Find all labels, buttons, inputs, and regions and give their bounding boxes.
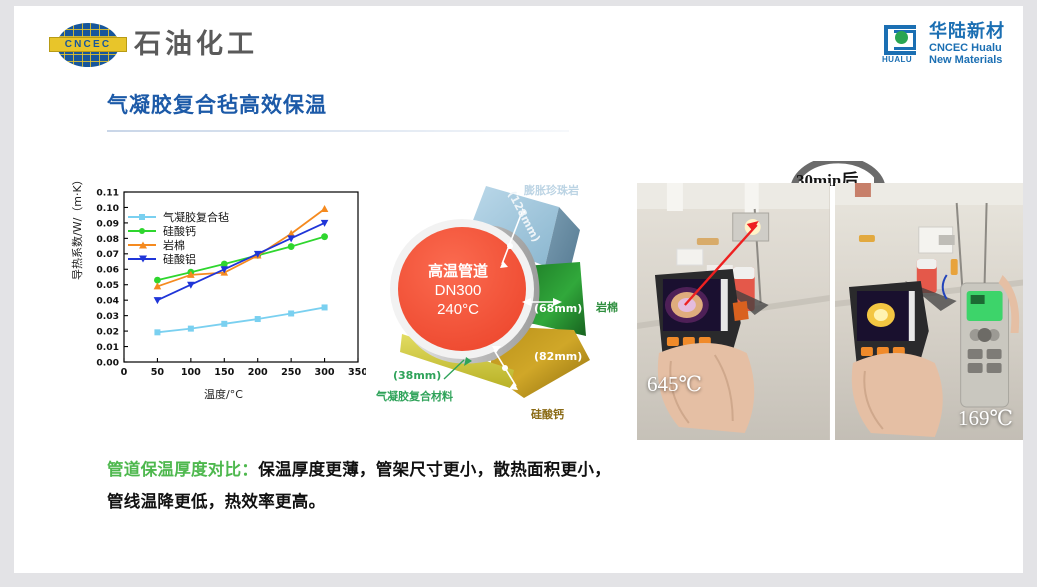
layer-thickness-calcium-silicate: (82mm) xyxy=(534,350,582,363)
svg-text:0.09: 0.09 xyxy=(96,218,119,229)
slide-canvas: CNCEC 石油化工 HUALU 华陆新材 CNCEC Hualu New Ma… xyxy=(14,6,1023,573)
hualu-brand-en-1: CNCEC Hualu xyxy=(929,42,1005,55)
pipe-core-label: 高温管道 DN300 240°C xyxy=(398,231,518,349)
brand-title-cn: 石油化工 xyxy=(134,28,258,62)
svg-text:0.07: 0.07 xyxy=(96,249,119,260)
layer-thickness-rockwool: (68mm) xyxy=(534,302,582,315)
svg-text:50: 50 xyxy=(151,367,165,378)
legend-swatch xyxy=(128,258,156,260)
svg-text:150: 150 xyxy=(214,367,234,378)
legend-item-0: 气凝胶复合毡 xyxy=(128,210,229,224)
chart-ylabel: 导热系数/W/（m·K） xyxy=(72,174,84,280)
title-divider xyxy=(107,130,569,132)
thermal-test-photos: 645℃ xyxy=(637,183,1027,440)
layer-label-aerogel: 气凝胶复合材料 xyxy=(376,390,453,403)
svg-text:0: 0 xyxy=(121,367,128,378)
legend-marker xyxy=(139,256,147,263)
legend-swatch xyxy=(128,230,156,232)
photo-before: 645℃ xyxy=(637,183,830,440)
svg-text:300: 300 xyxy=(315,367,335,378)
svg-text:0.00: 0.00 xyxy=(96,357,119,368)
chart-xlabel: 温度/°C xyxy=(204,389,243,401)
temperature-reading-after: 169℃ xyxy=(958,406,1013,430)
cncec-wordmark: CNCEC xyxy=(49,37,127,52)
pipe-core-line3: 240°C xyxy=(437,300,479,319)
pipe-core-line2: DN300 xyxy=(435,281,482,300)
layer-label-perlite: 膨胀珍珠岩 xyxy=(524,184,579,197)
cncec-wordmark-text: CNCEC xyxy=(50,38,126,51)
svg-text:0.02: 0.02 xyxy=(96,326,119,337)
svg-text:350: 350 xyxy=(348,367,366,378)
legend-label: 硅酸铝 xyxy=(163,253,196,266)
legend-item-1: 硅酸钙 xyxy=(128,224,229,238)
caption-highlight: 管道保温厚度对比： xyxy=(107,460,258,479)
svg-text:100: 100 xyxy=(181,367,201,378)
legend-marker xyxy=(139,228,145,234)
legend-swatch xyxy=(128,244,156,246)
legend-item-2: 岩棉 xyxy=(128,238,229,252)
thermal-conductivity-chart: 0.000.010.020.030.040.050.060.070.080.09… xyxy=(76,184,366,409)
temperature-reading-before: 645℃ xyxy=(647,372,702,396)
layer-label-calcium-silicate: 硅酸钙 xyxy=(531,408,564,421)
page-title: 气凝胶复合毡高效保温 xyxy=(107,92,327,119)
photo-after-image xyxy=(835,183,1028,440)
pipe-insulation-diagram: 高温管道 DN300 240°C 膨胀珍珠岩 岩棉 硅酸钙 气凝胶复合材料 (1… xyxy=(374,174,636,426)
legend-item-3: 硅酸铝 xyxy=(128,252,229,266)
legend-swatch xyxy=(128,216,156,218)
svg-text:0.08: 0.08 xyxy=(96,234,119,245)
photo-before-image xyxy=(637,183,830,440)
cncec-logo: CNCEC xyxy=(49,22,127,68)
summary-caption: 管道保温厚度对比：保温厚度更薄，管架尺寸更小，散热面积更小，管线温降更低，热效率… xyxy=(107,454,627,518)
svg-text:200: 200 xyxy=(248,367,268,378)
legend-label: 岩棉 xyxy=(163,239,185,252)
slide: CNCEC 石油化工 HUALU 华陆新材 CNCEC Hualu New Ma… xyxy=(0,0,1037,587)
hualu-brand-cn: 华陆新材 xyxy=(929,22,1005,42)
svg-text:0.03: 0.03 xyxy=(96,311,119,322)
hualu-logo: HUALU 华陆新材 CNCEC Hualu New Materials xyxy=(882,20,1005,68)
hualu-mark-icon: HUALU xyxy=(882,24,922,64)
layer-label-rockwool: 岩棉 xyxy=(596,301,618,314)
legend-marker xyxy=(139,242,147,249)
svg-text:250: 250 xyxy=(281,367,301,378)
hualu-brand-en-2: New Materials xyxy=(929,54,1005,67)
hualu-abbr: HUALU xyxy=(882,55,912,64)
svg-text:0.06: 0.06 xyxy=(96,265,119,276)
photo-after: 169℃ xyxy=(835,183,1028,440)
legend-marker xyxy=(139,214,145,220)
legend-label: 气凝胶复合毡 xyxy=(163,211,229,224)
svg-text:0.11: 0.11 xyxy=(96,187,119,198)
svg-text:0.10: 0.10 xyxy=(96,203,119,214)
pipe-core-line1: 高温管道 xyxy=(428,262,488,281)
svg-text:0.05: 0.05 xyxy=(96,280,119,291)
svg-text:0.04: 0.04 xyxy=(96,296,119,307)
legend-label: 硅酸钙 xyxy=(163,225,196,238)
chart-legend: 气凝胶复合毡硅酸钙岩棉硅酸铝 xyxy=(128,210,229,266)
layer-thickness-aerogel: (38mm) xyxy=(393,369,441,382)
svg-text:0.01: 0.01 xyxy=(96,342,119,353)
